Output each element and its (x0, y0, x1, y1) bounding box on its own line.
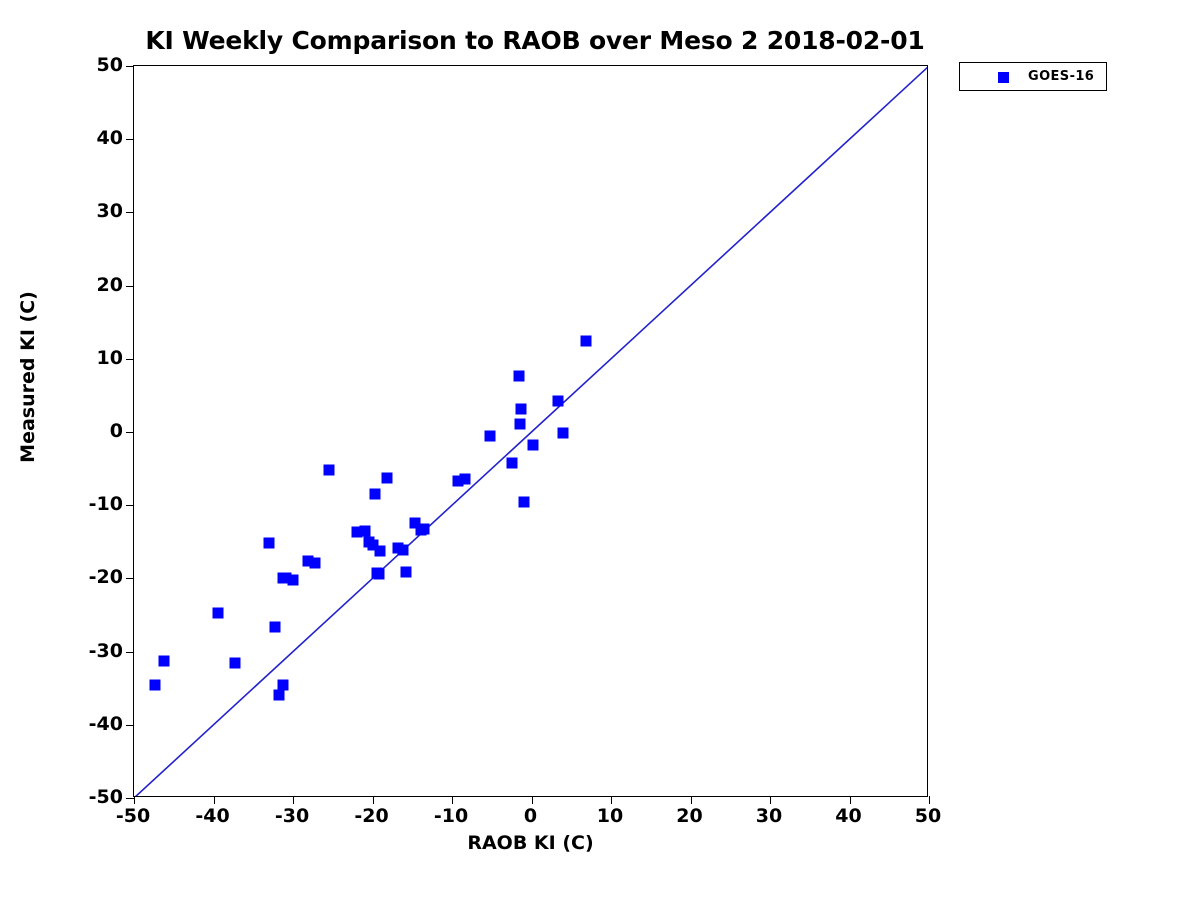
scatter-point (514, 418, 525, 429)
y-axis-tick-labels: 50403020100-10-20-30-40-50 (0, 65, 123, 797)
scatter-point (310, 558, 321, 569)
y-tick-label: 50 (97, 54, 123, 76)
x-tick-mark (691, 796, 692, 804)
scatter-point (278, 680, 289, 691)
scatter-point (381, 473, 392, 484)
scatter-point (373, 569, 384, 580)
x-tick-label: 10 (597, 805, 623, 827)
y-tick-mark (126, 432, 134, 433)
x-tick-mark (293, 796, 294, 804)
scatter-point (400, 566, 411, 577)
y-tick-label: -10 (89, 493, 123, 515)
chart-title: KI Weekly Comparison to RAOB over Meso 2… (0, 26, 1070, 55)
y-tick-mark (126, 505, 134, 506)
x-tick-label: -30 (275, 805, 309, 827)
y-tick-label: -30 (89, 640, 123, 662)
y-tick-label: 30 (97, 200, 123, 222)
y-tick-label: 40 (97, 127, 123, 149)
y-tick-label: 20 (97, 274, 123, 296)
scatter-point (419, 524, 430, 535)
scatter-point (159, 656, 170, 667)
y-tick-mark (126, 359, 134, 360)
scatter-point (518, 497, 529, 508)
scatter-point (229, 657, 240, 668)
x-tick-mark (850, 796, 851, 804)
x-tick-mark (214, 796, 215, 804)
scatter-point (213, 607, 224, 618)
x-tick-label: 40 (835, 805, 861, 827)
scatter-point (288, 574, 299, 585)
x-tick-mark (452, 796, 453, 804)
scatter-point (374, 545, 385, 556)
scatter-point (369, 489, 380, 500)
y-tick-label: -40 (89, 713, 123, 735)
x-tick-label: -50 (116, 805, 150, 827)
x-tick-label: 50 (915, 805, 941, 827)
y-tick-mark (126, 798, 134, 799)
scatter-series-goes16 (134, 66, 927, 796)
y-tick-mark (126, 212, 134, 213)
scatter-point (558, 428, 569, 439)
y-tick-mark (126, 725, 134, 726)
plot-area (133, 65, 928, 797)
scatter-point (516, 404, 527, 415)
y-tick-label: 0 (110, 420, 123, 442)
x-tick-label: -40 (195, 805, 229, 827)
x-axis-label: RAOB KI (C) (133, 832, 928, 854)
scatter-point (397, 544, 408, 555)
y-tick-mark (126, 139, 134, 140)
scatter-point (552, 395, 563, 406)
scatter-point (459, 473, 470, 484)
scatter-point (359, 525, 370, 536)
y-tick-mark (126, 286, 134, 287)
x-tick-label: -10 (434, 805, 468, 827)
scatter-point (485, 430, 496, 441)
x-axis-tick-labels: -50-40-30-20-1001020304050 (133, 805, 928, 835)
x-tick-mark (373, 796, 374, 804)
x-tick-mark (770, 796, 771, 804)
y-tick-label: -20 (89, 566, 123, 588)
x-tick-mark (929, 796, 930, 804)
x-tick-mark (611, 796, 612, 804)
legend: GOES-16 (959, 62, 1107, 91)
chart-figure: KI Weekly Comparison to RAOB over Meso 2… (0, 0, 1200, 900)
scatter-point (506, 457, 517, 468)
scatter-point (273, 689, 284, 700)
scatter-point (149, 679, 160, 690)
x-tick-label: 0 (524, 805, 537, 827)
legend-label-goes16: GOES-16 (1028, 69, 1094, 84)
scatter-point (528, 440, 539, 451)
x-tick-label: 20 (676, 805, 702, 827)
x-tick-mark (134, 796, 135, 804)
scatter-point (269, 621, 280, 632)
legend-swatch-goes16 (998, 72, 1009, 83)
x-tick-label: -20 (354, 805, 388, 827)
scatter-point (264, 538, 275, 549)
scatter-point (513, 371, 524, 382)
y-tick-mark (126, 578, 134, 579)
y-tick-mark (126, 66, 134, 67)
x-tick-mark (532, 796, 533, 804)
scatter-point (581, 335, 592, 346)
x-tick-label: 30 (756, 805, 782, 827)
y-tick-label: 10 (97, 347, 123, 369)
scatter-point (323, 465, 334, 476)
y-tick-mark (126, 652, 134, 653)
